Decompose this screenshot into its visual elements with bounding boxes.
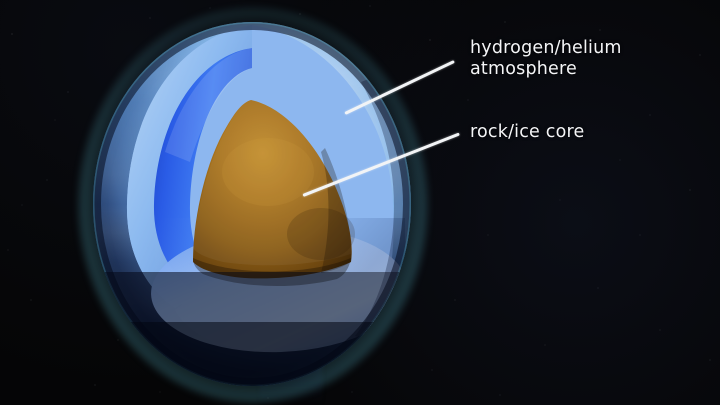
core-highlight: [222, 138, 314, 206]
label-core: rock/ice core: [470, 122, 585, 143]
cutaway-svg: [93, 22, 411, 386]
label-atmosphere: hydrogen/helium atmosphere: [470, 38, 622, 79]
planet-cutaway-diagram: [93, 22, 413, 388]
bottom-shadow-deep: [93, 322, 411, 386]
illustration-canvas: hydrogen/helium atmosphere rock/ice core: [0, 0, 720, 405]
cutaway-wedge: [93, 22, 411, 386]
